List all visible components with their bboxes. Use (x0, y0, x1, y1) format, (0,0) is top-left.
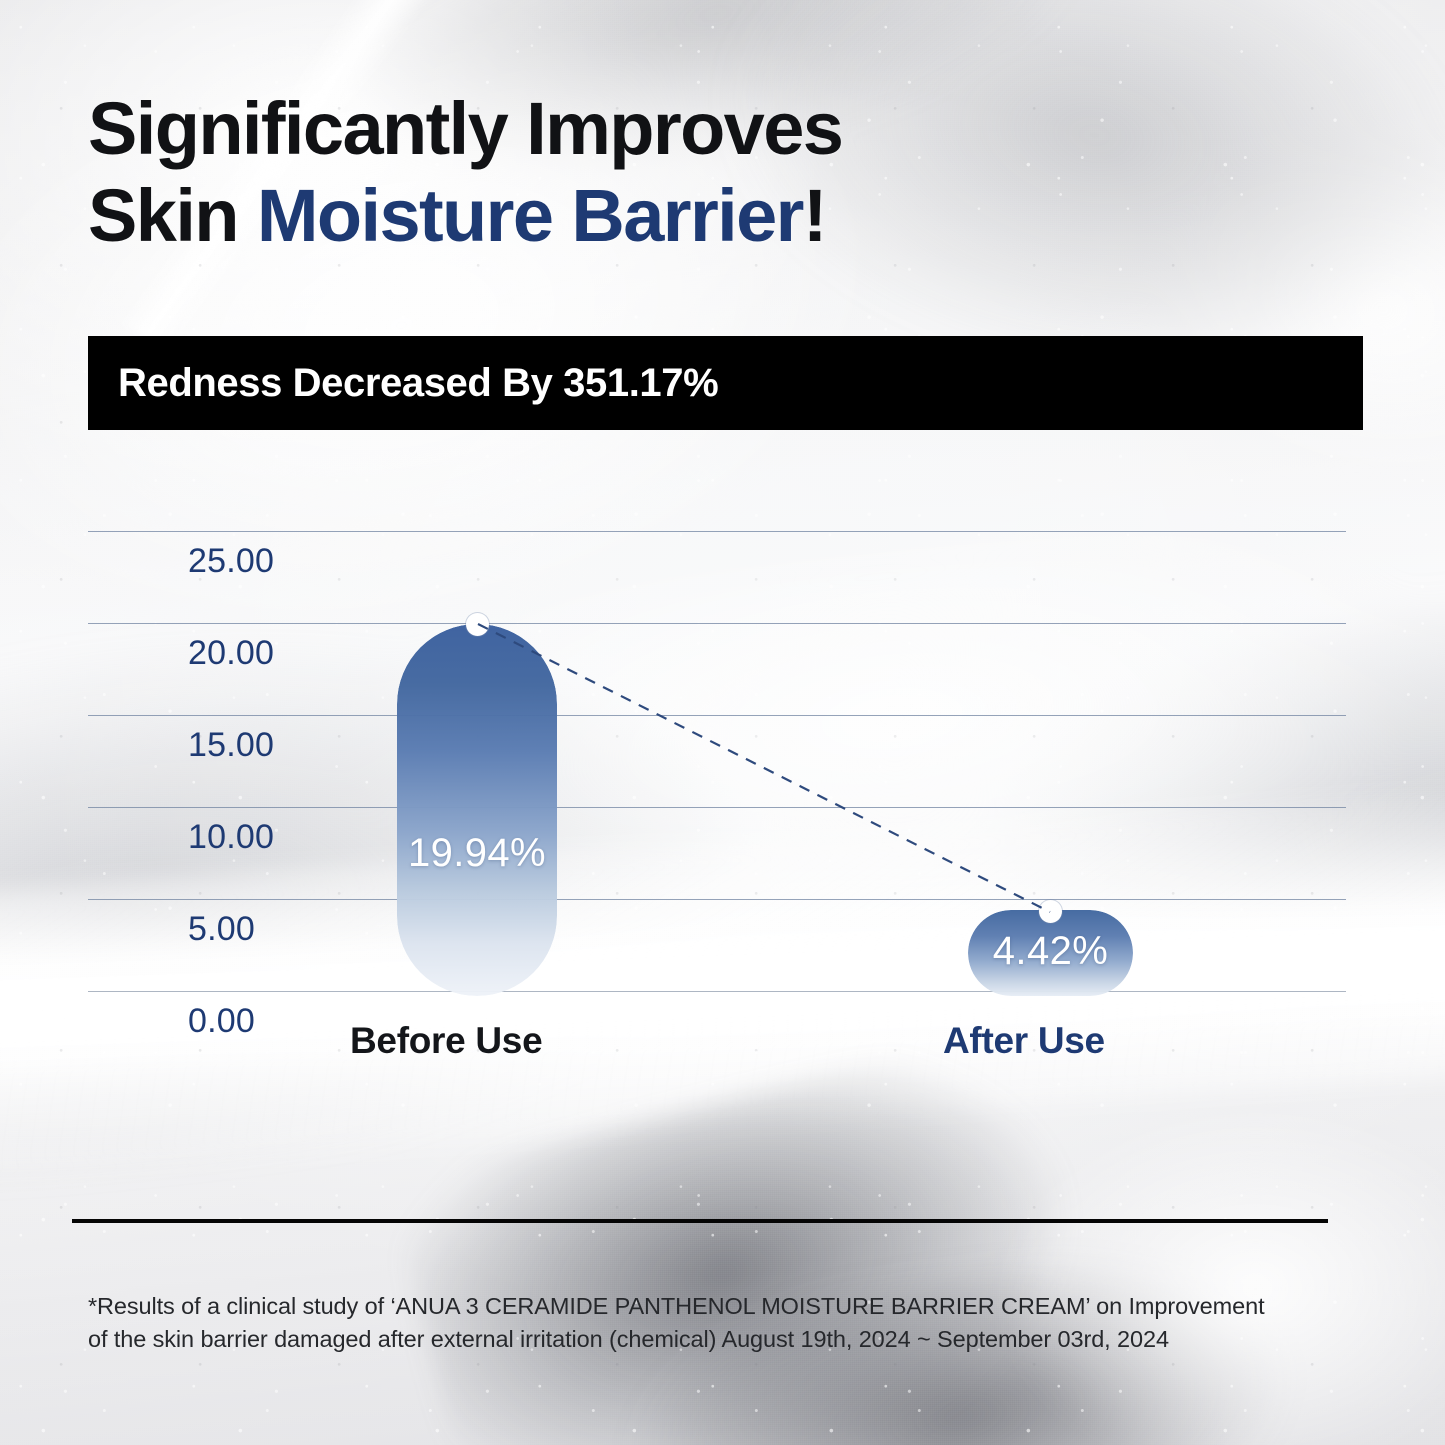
gridline-10 (88, 807, 1346, 808)
gridline-5 (88, 899, 1346, 900)
trend-connector-dash (478, 624, 1050, 912)
x-axis-label-after-use: After Use (943, 1020, 1105, 1062)
footnote: *Results of a clinical study of ‘ANUA 3 … (88, 1290, 1356, 1357)
bar-chart: 25.00 20.00 15.00 10.00 5.00 0.00 19.94%… (88, 512, 1363, 1072)
gridline-25 (88, 531, 1346, 532)
bar-before-use-value: 19.94% (397, 831, 557, 876)
bar-before-use (397, 624, 557, 996)
footnote-line-1: *Results of a clinical study of ‘ANUA 3 … (88, 1290, 1356, 1323)
chart-plot-area: 25.00 20.00 15.00 10.00 5.00 0.00 19.94%… (188, 531, 1346, 1023)
headline-line-2-tail: ! (803, 174, 826, 257)
promo-graphic: Significantly Improves Skin Moisture Bar… (0, 0, 1445, 1445)
y-axis-label-25: 25.00 (188, 542, 284, 581)
headline-line-2: Skin Moisture Barrier! (88, 179, 1188, 252)
data-point-before-use (466, 613, 489, 636)
headline: Significantly Improves Skin Moisture Bar… (88, 92, 1188, 253)
bar-after-use-value: 4.42% (968, 929, 1133, 974)
y-axis-label-10: 10.00 (188, 818, 284, 857)
footer-divider (72, 1219, 1328, 1223)
y-axis-label-0: 0.00 (188, 1002, 284, 1041)
gridline-15 (88, 715, 1346, 716)
headline-line-2-accent: Moisture Barrier (257, 174, 803, 257)
headline-line-2-plain: Skin (88, 174, 257, 257)
footnote-line-2: of the skin barrier damaged after extern… (88, 1323, 1356, 1356)
gridline-0 (88, 991, 1346, 992)
bar-before-use-fill (397, 624, 557, 996)
trend-connector-line (188, 531, 1346, 1023)
y-axis-label-20: 20.00 (188, 634, 284, 673)
y-axis-label-5: 5.00 (188, 910, 284, 949)
gridline-20 (88, 623, 1346, 624)
y-axis-label-15: 15.00 (188, 726, 284, 765)
stat-banner-text: Redness Decreased By 351.17% (88, 361, 718, 406)
stat-banner: Redness Decreased By 351.17% (88, 336, 1363, 430)
x-axis-label-before-use: Before Use (350, 1020, 542, 1062)
data-point-after-use (1039, 900, 1062, 923)
headline-line-1: Significantly Improves (88, 92, 1188, 165)
